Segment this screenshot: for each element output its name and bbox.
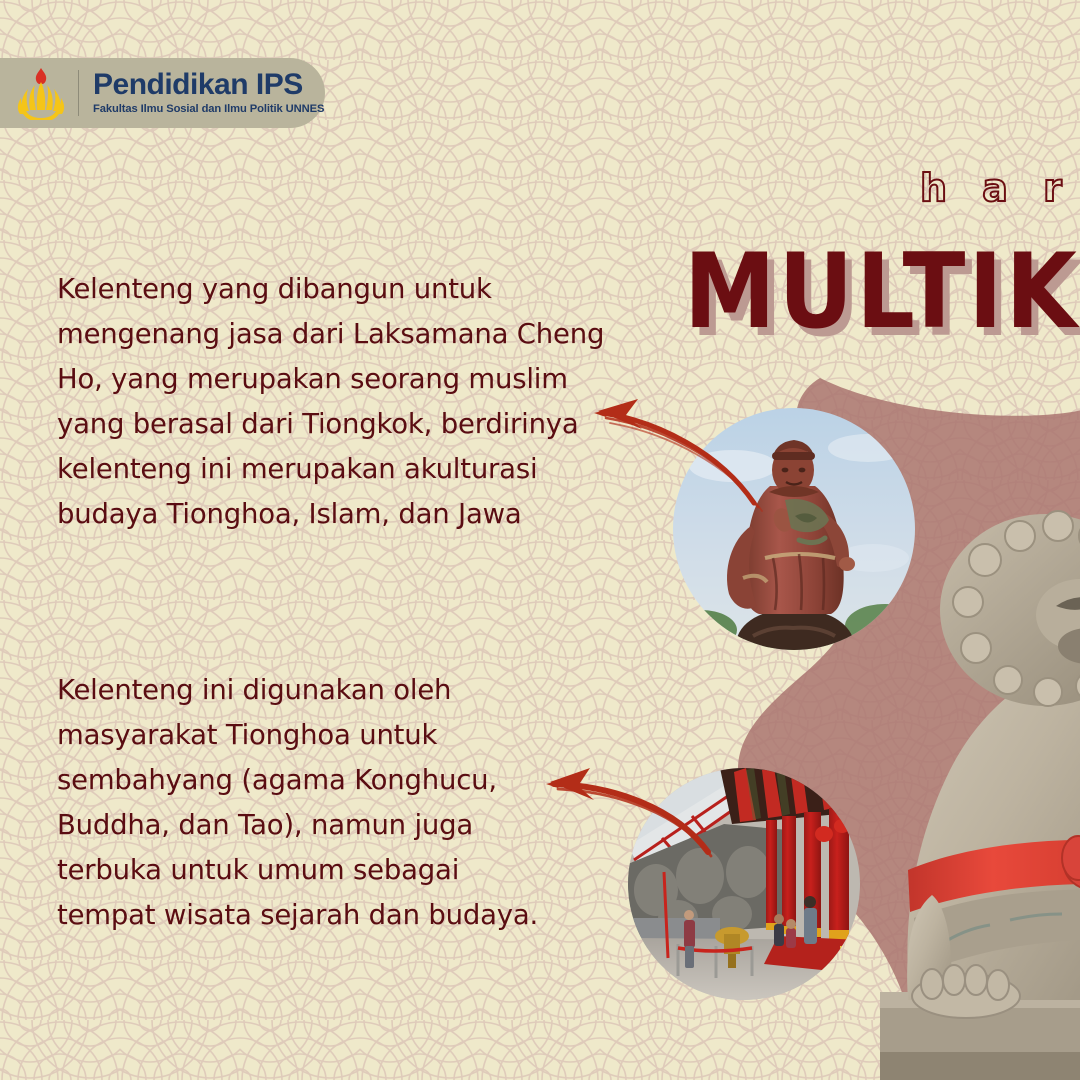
headline-main-title: MULTIKU <box>684 232 1080 352</box>
logo-title: Pendidikan IPS <box>93 70 324 100</box>
logo-divider <box>78 70 79 116</box>
paragraph-cheng-ho: Kelenteng yang dibangun untuk mengenang … <box>57 267 622 537</box>
paragraph-worship: Kelenteng ini digunakan oleh masyarakat … <box>57 668 562 938</box>
logo-badge: Pendidikan IPS Fakultas Ilmu Sosial dan … <box>0 58 325 128</box>
headline-outline-text: h a r m <box>920 166 1080 210</box>
poster-canvas: Pendidikan IPS Fakultas Ilmu Sosial dan … <box>0 0 1080 1080</box>
logo-subtitle: Fakultas Ilmu Sosial dan Ilmu Politik UN… <box>93 104 324 115</box>
temple-interior-photo <box>628 768 860 1000</box>
unnes-logo-icon <box>14 66 68 120</box>
cheng-ho-statue-photo <box>673 408 915 650</box>
